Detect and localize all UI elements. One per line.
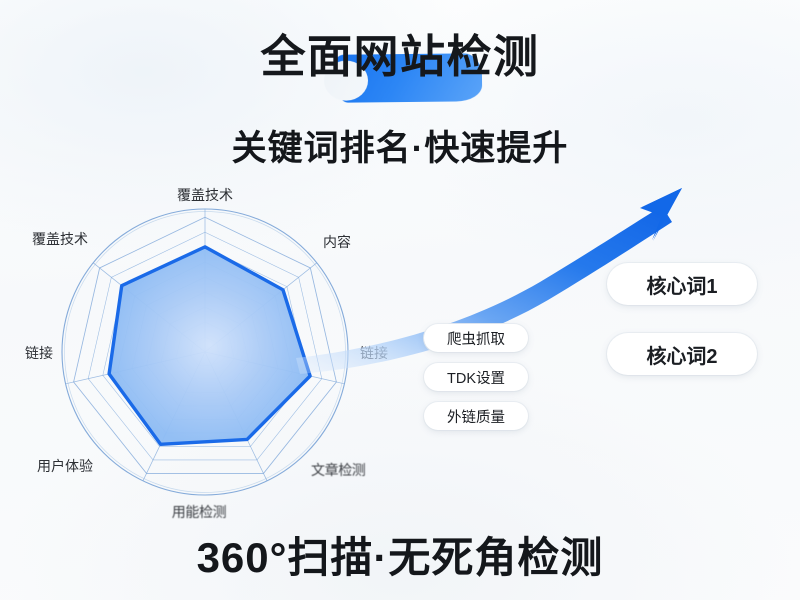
footer-tagline: 360°扫描·无死角检测 xyxy=(0,524,800,585)
keyword-label: 核心词2 xyxy=(646,340,717,369)
check-item-pill-1[interactable]: TDK设置 xyxy=(424,363,528,391)
poster-stage: 全面网站检测 关键词排名·快速提升 覆盖技术内容链接文章检测用能检测用户体验链接… xyxy=(0,0,800,600)
check-item-label: TDK设置 xyxy=(447,367,505,388)
radar-axis-label-6: 链接 xyxy=(25,343,53,363)
radar-axis-label-4: 用能检测 xyxy=(172,502,226,522)
check-item-label: 外链质量 xyxy=(447,406,505,427)
radar-axis-label-7: 覆盖技术 xyxy=(32,229,88,249)
title-highlighted-word: 网站 xyxy=(353,31,446,82)
keyword-label: 核心词1 xyxy=(646,270,717,299)
keyword-pill-1[interactable]: 核心词2 xyxy=(607,333,757,375)
radar-axis-label-0: 覆盖技术 xyxy=(177,185,233,205)
check-item-pill-0[interactable]: 爬虫抓取 xyxy=(424,324,528,352)
page-title: 全面网站检测 xyxy=(0,32,800,82)
radar-series-polygon xyxy=(109,247,310,444)
keyword-pill-0[interactable]: 核心词1 xyxy=(607,263,757,305)
check-item-label: 爬虫抓取 xyxy=(447,328,505,349)
check-item-pill-2[interactable]: 外链质量 xyxy=(424,402,528,430)
radar-axis-label-5: 用户体验 xyxy=(37,456,93,476)
title-block: 全面网站检测 xyxy=(0,32,800,82)
radar-axis-label-3: 文章检测 xyxy=(311,460,365,480)
page-subtitle: 关键词排名·快速提升 xyxy=(0,120,800,171)
